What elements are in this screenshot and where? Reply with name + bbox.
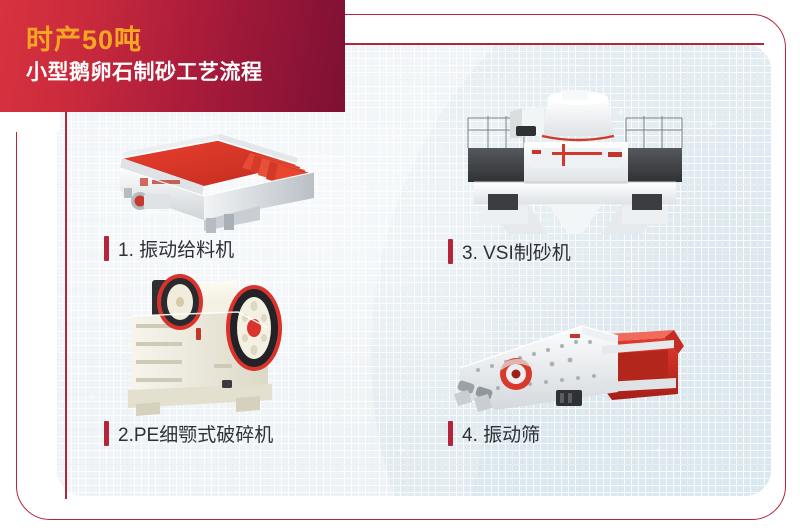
horizontal-divider-line xyxy=(344,43,764,45)
title-banner: 时产50吨 小型鹅卵石制砂工艺流程 xyxy=(0,0,345,112)
vibrating-screen-image xyxy=(452,298,684,416)
item-label-4: 4. 振动筛 xyxy=(448,420,540,447)
label-accent-bar xyxy=(448,239,453,264)
jaw-crusher-image xyxy=(118,268,323,416)
item-label-3: 3. VSI制砂机 xyxy=(448,238,571,265)
label-accent-bar xyxy=(104,236,109,261)
label-accent-bar xyxy=(104,421,109,446)
item-label-1: 1. 振动给料机 xyxy=(104,235,234,262)
item-label-1-text: 1. 振动给料机 xyxy=(118,235,234,262)
item-label-2-text: 2.PE细颚式破碎机 xyxy=(118,420,273,447)
item-label-3-text: 3. VSI制砂机 xyxy=(462,238,571,265)
banner-line-2: 小型鹅卵石制砂工艺流程 xyxy=(26,59,345,87)
vertical-divider-line xyxy=(65,111,67,499)
vibrating-feeder-image xyxy=(100,128,335,233)
item-label-4-text: 4. 振动筛 xyxy=(462,420,540,447)
infographic-page: 时产50吨 小型鹅卵石制砂工艺流程 1. 振动给料机 2.PE细颚式破碎机 3.… xyxy=(0,0,800,530)
item-label-2: 2.PE细颚式破碎机 xyxy=(104,420,273,447)
banner-line-1: 时产50吨 xyxy=(26,25,345,56)
vsi-sand-maker-image xyxy=(452,82,697,234)
label-accent-bar xyxy=(448,421,453,446)
